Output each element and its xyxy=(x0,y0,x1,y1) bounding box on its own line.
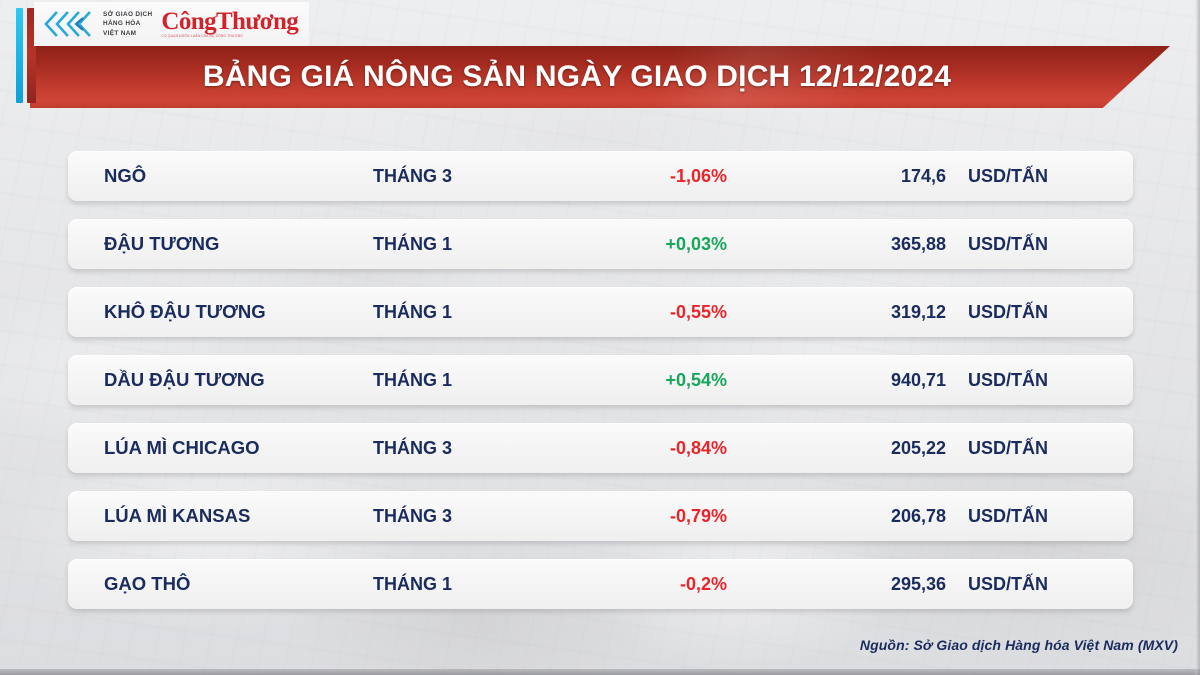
commodity-price-table: NGÔTHÁNG 3-1,06%174,6USD/TẤNĐẬU TƯƠNGTHÁ… xyxy=(68,151,1133,609)
table-row[interactable]: LÚA MÌ CHICAGOTHÁNG 3-0,84%205,22USD/TẤN xyxy=(68,423,1133,473)
mxv-chevron-logo-icon xyxy=(42,9,98,39)
price-unit: USD/TẤN xyxy=(968,302,1133,323)
commodity-name: LÚA MÌ KANSAS xyxy=(68,505,373,527)
price-unit: USD/TẤN xyxy=(968,506,1133,527)
table-row[interactable]: GẠO THÔTHÁNG 1-0,2%295,36USD/TẤN xyxy=(68,559,1133,609)
price-value: 174,6 xyxy=(763,166,968,187)
source-note: Nguồn: Sở Giao dịch Hàng hóa Việt Nam (M… xyxy=(860,637,1178,653)
mxv-line-3: VIỆT NAM xyxy=(103,29,152,38)
congthuong-tagline: CƠ QUAN NGÔN LUẬN CỦA BỘ CÔNG THƯƠNG xyxy=(161,34,298,38)
price-unit: USD/TẤN xyxy=(968,574,1133,595)
mxv-line-2: HÀNG HÓA xyxy=(103,19,152,28)
table-row[interactable]: ĐẬU TƯƠNGTHÁNG 1+0,03%365,88USD/TẤN xyxy=(68,219,1133,269)
commodity-name: KHÔ ĐẬU TƯƠNG xyxy=(68,301,373,323)
contract-month: THÁNG 1 xyxy=(373,370,568,391)
price-unit: USD/TẤN xyxy=(968,438,1133,459)
page-title: BẢNG GIÁ NÔNG SẢN NGÀY GIAO DỊCH 12/12/2… xyxy=(203,60,997,94)
congthuong-word-cong: Công xyxy=(161,8,216,35)
price-value: 319,12 xyxy=(763,302,968,323)
commodity-name: NGÔ xyxy=(68,165,373,187)
contract-month: THÁNG 1 xyxy=(373,574,568,595)
table-row[interactable]: KHÔ ĐẬU TƯƠNGTHÁNG 1-0,55%319,12USD/TẤN xyxy=(68,287,1133,337)
bottom-edge xyxy=(0,669,1200,675)
mxv-wordmark: SỞ GIAO DỊCH HÀNG HÓA VIỆT NAM xyxy=(103,10,152,38)
price-value: 940,71 xyxy=(763,370,968,391)
price-board-page: SỞ GIAO DỊCH HÀNG HÓA VIỆT NAM CôngThươn… xyxy=(0,0,1200,675)
price-unit: USD/TẤN xyxy=(968,166,1133,187)
table-row[interactable]: NGÔTHÁNG 3-1,06%174,6USD/TẤN xyxy=(68,151,1133,201)
right-edge xyxy=(1195,0,1200,675)
congthuong-wordmark: CôngThương xyxy=(161,10,298,33)
change-percent: -0,55% xyxy=(568,302,763,323)
price-unit: USD/TẤN xyxy=(968,234,1133,255)
logo-strip: SỞ GIAO DỊCH HÀNG HÓA VIỆT NAM CôngThươn… xyxy=(34,2,309,46)
congthuong-logo: CôngThương CƠ QUAN NGÔN LUẬN CỦA BỘ CÔNG… xyxy=(161,10,298,38)
commodity-name: DẦU ĐẬU TƯƠNG xyxy=(68,369,373,391)
commodity-name: LÚA MÌ CHICAGO xyxy=(68,437,373,459)
change-percent: -0,84% xyxy=(568,438,763,459)
accent-bar-cyan xyxy=(16,8,23,103)
table-row[interactable]: DẦU ĐẬU TƯƠNGTHÁNG 1+0,54%940,71USD/TẤN xyxy=(68,355,1133,405)
change-percent: +0,03% xyxy=(568,234,763,255)
contract-month: THÁNG 1 xyxy=(373,302,568,323)
table-row[interactable]: LÚA MÌ KANSASTHÁNG 3-0,79%206,78USD/TẤN xyxy=(68,491,1133,541)
price-value: 295,36 xyxy=(763,574,968,595)
change-percent: -0,79% xyxy=(568,506,763,527)
commodity-name: ĐẬU TƯƠNG xyxy=(68,233,373,255)
contract-month: THÁNG 3 xyxy=(373,438,568,459)
congthuong-word-thuong: Thương xyxy=(216,8,298,35)
price-value: 206,78 xyxy=(763,506,968,527)
commodity-name: GẠO THÔ xyxy=(68,573,373,595)
title-banner: BẢNG GIÁ NÔNG SẢN NGÀY GIAO DỊCH 12/12/2… xyxy=(30,46,1170,108)
price-value: 365,88 xyxy=(763,234,968,255)
change-percent: +0,54% xyxy=(568,370,763,391)
contract-month: THÁNG 3 xyxy=(373,166,568,187)
price-unit: USD/TẤN xyxy=(968,370,1133,391)
change-percent: -1,06% xyxy=(568,166,763,187)
contract-month: THÁNG 1 xyxy=(373,234,568,255)
change-percent: -0,2% xyxy=(568,574,763,595)
contract-month: THÁNG 3 xyxy=(373,506,568,527)
mxv-line-1: SỞ GIAO DỊCH xyxy=(103,10,152,19)
price-value: 205,22 xyxy=(763,438,968,459)
